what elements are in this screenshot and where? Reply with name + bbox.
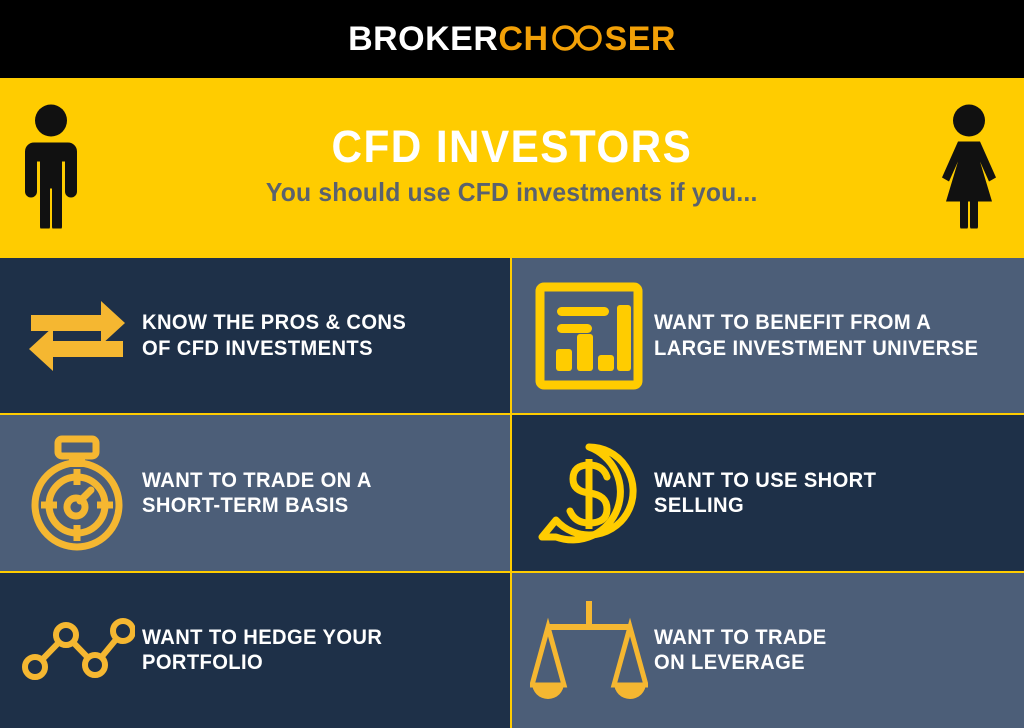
exchange-arrows-icon — [18, 281, 136, 391]
benefit-line1-1: KNOW THE PROS & CONS — [142, 311, 406, 334]
brand-bar: BROKERCHSER — [0, 0, 1024, 78]
line-chart-nodes-icon — [18, 595, 136, 705]
header-banner: CFD INVESTORS You should use CFD investm… — [0, 78, 1024, 258]
benefit-text-3: WANT TO TRADE ON A SHORT-TERM BASIS — [142, 468, 372, 518]
dollar-speech-bubble-icon — [530, 438, 648, 548]
benefit-text-5: WANT TO HEDGE YOUR PORTFOLIO — [142, 625, 382, 675]
stopwatch-target-icon — [18, 438, 136, 548]
benefit-line1-3: WANT TO TRADE ON A — [142, 469, 372, 492]
benefit-line2-5: PORTFOLIO — [142, 650, 382, 675]
benefit-text-2: WANT TO BENEFIT FROM A LARGE INVESTMENT … — [654, 310, 978, 360]
benefit-line1-6: WANT TO TRADE — [654, 626, 827, 649]
benefit-line1-2: WANT TO BENEFIT FROM A — [654, 311, 931, 334]
female-person-icon — [930, 103, 1008, 234]
benefit-text-6: WANT TO TRADE ON LEVERAGE — [654, 625, 827, 675]
page-title: CFD INVESTORS — [332, 123, 693, 170]
brokerchooser-logo[interactable]: BROKERCHSER — [348, 19, 676, 59]
bar-chart-report-icon — [530, 281, 648, 391]
benefit-text-1: KNOW THE PROS & CONS OF CFD INVESTMENTS — [142, 310, 406, 360]
benefit-cell-4[interactable]: WANT TO USE SHORT SELLING — [512, 415, 1024, 570]
benefit-line2-1: OF CFD INVESTMENTS — [142, 336, 406, 361]
benefit-cell-1[interactable]: KNOW THE PROS & CONS OF CFD INVESTMENTS — [0, 258, 510, 413]
page-subtitle: You should use CFD investments if you... — [266, 178, 758, 207]
benefit-cell-6[interactable]: WANT TO TRADE ON LEVERAGE — [512, 573, 1024, 728]
benefit-line1-5: WANT TO HEDGE YOUR — [142, 626, 382, 649]
benefit-cell-2[interactable]: WANT TO BENEFIT FROM A LARGE INVESTMENT … — [512, 258, 1024, 413]
benefit-text-4: WANT TO USE SHORT SELLING — [654, 468, 876, 518]
benefit-cell-3[interactable]: WANT TO TRADE ON A SHORT-TERM BASIS — [0, 415, 510, 570]
header-text-group: CFD INVESTORS You should use CFD investm… — [253, 123, 770, 207]
logo-text-broker: BROKER — [348, 22, 498, 56]
logo-text-ser: SER — [605, 22, 676, 56]
glasses-icon — [550, 19, 604, 59]
infographic-page: BROKERCHSER CFD INVESTORS You should use… — [0, 0, 1024, 728]
logo-text-ch: CH — [498, 22, 548, 56]
benefit-cell-5[interactable]: WANT TO HEDGE YOUR PORTFOLIO — [0, 573, 510, 728]
benefits-grid: KNOW THE PROS & CONS OF CFD INVESTMENTS … — [0, 258, 1024, 728]
male-person-icon — [14, 103, 88, 234]
benefit-line2-4: SELLING — [654, 493, 876, 518]
benefit-line2-2: LARGE INVESTMENT UNIVERSE — [654, 336, 978, 361]
balance-scales-icon — [530, 595, 648, 705]
benefit-line1-4: WANT TO USE SHORT — [654, 469, 876, 492]
benefit-line2-6: ON LEVERAGE — [654, 650, 827, 675]
benefit-line2-3: SHORT-TERM BASIS — [142, 493, 372, 518]
